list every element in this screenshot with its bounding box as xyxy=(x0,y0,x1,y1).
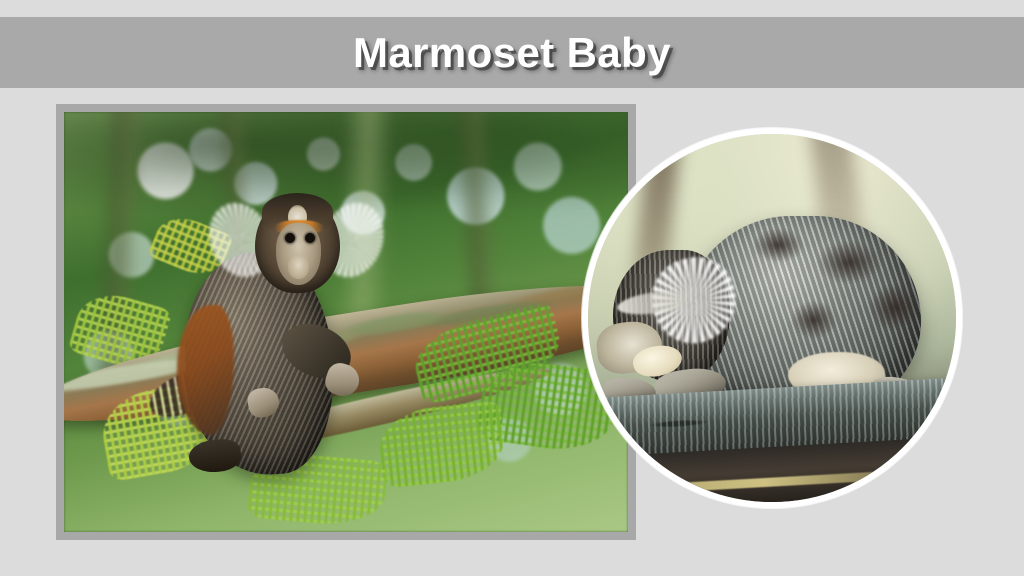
adult-marmoset xyxy=(177,188,414,482)
slide-canvas: Marmoset Baby xyxy=(0,0,1024,576)
marmoset-eye-left xyxy=(285,233,295,243)
marmoset-rump xyxy=(177,305,234,434)
fur-patch xyxy=(791,301,836,339)
left-photo-frame xyxy=(56,104,636,540)
baby-marmoset-photo xyxy=(588,134,956,502)
right-photo-circle-frame xyxy=(582,128,962,508)
title-banner: Marmoset Baby xyxy=(0,17,1024,88)
marmoset-foot xyxy=(187,438,242,476)
fur-patch xyxy=(869,284,921,331)
marmoset-muzzle xyxy=(288,255,309,279)
fur-patch xyxy=(817,241,882,284)
marmoset-eye-right xyxy=(305,233,315,243)
page-title: Marmoset Baby xyxy=(353,32,671,74)
adult-marmoset-photo xyxy=(64,112,628,532)
